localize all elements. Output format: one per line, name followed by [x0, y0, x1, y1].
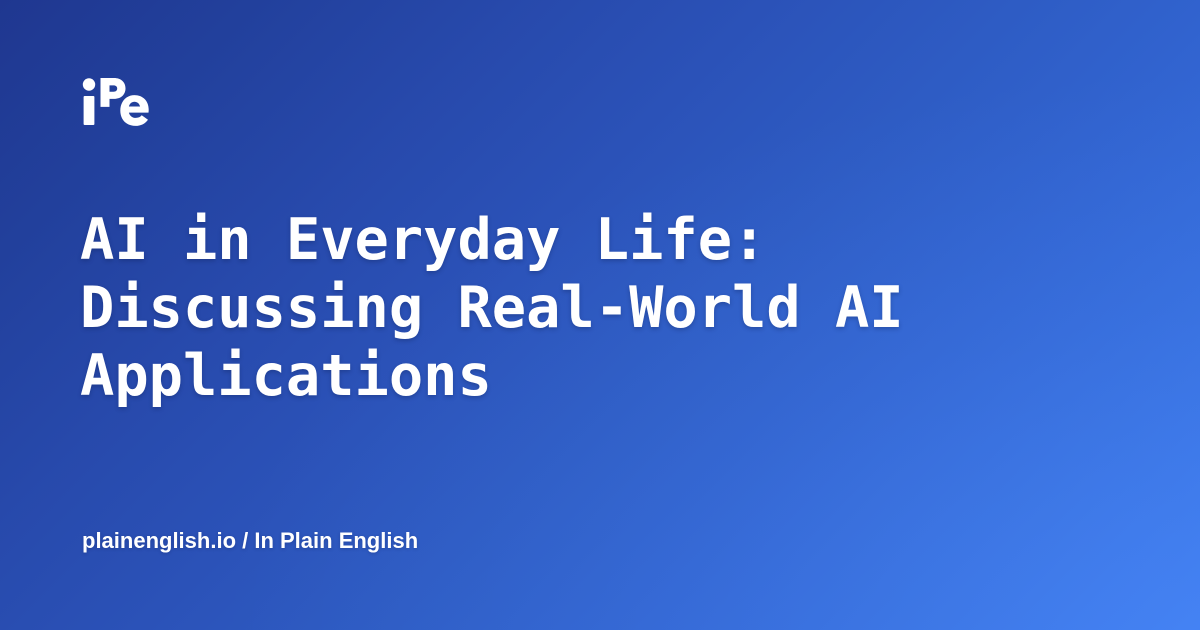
article-title: AI in Everyday Life: Discussing Real-Wor… — [80, 206, 1080, 410]
ipe-logo-icon — [80, 74, 152, 126]
ipe-logo-link[interactable] — [80, 74, 152, 126]
share-card: AI in Everyday Life: Discussing Real-Wor… — [0, 0, 1200, 630]
footer-attribution: plainenglish.io / In Plain English — [82, 526, 418, 556]
card-content: AI in Everyday Life: Discussing Real-Wor… — [0, 0, 1200, 630]
